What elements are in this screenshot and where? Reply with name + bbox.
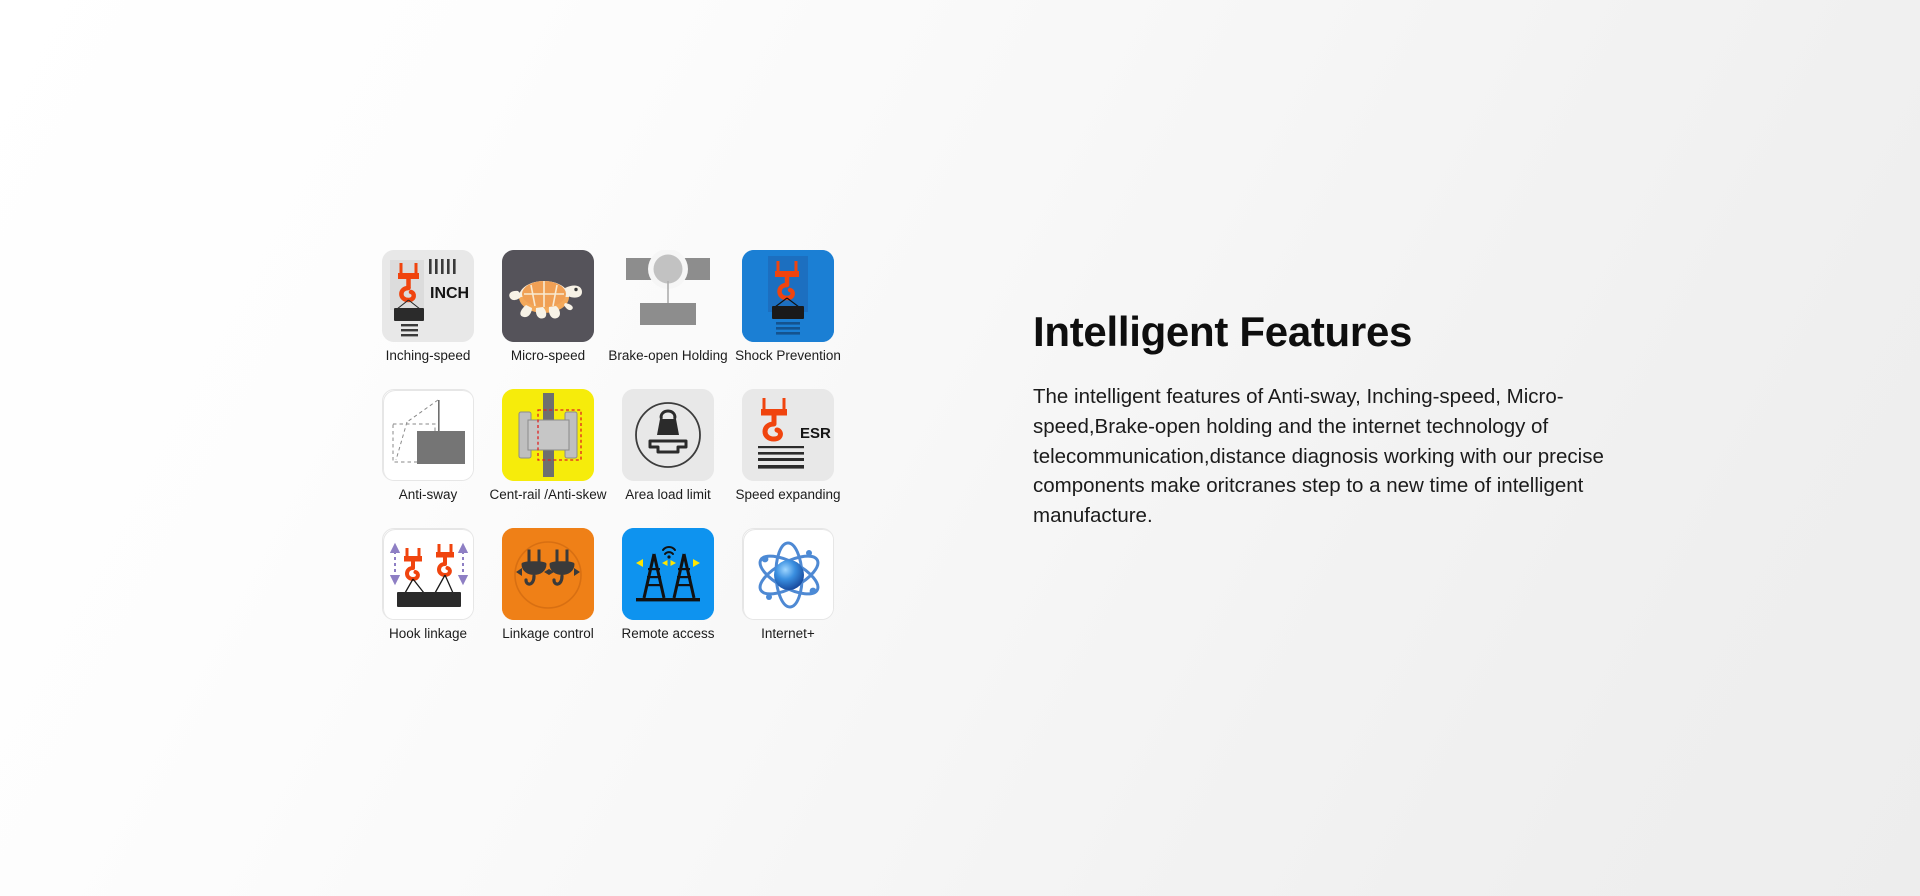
description-paragraph: The intelligent features of Anti-sway, I… [1033,382,1613,531]
feature-item-anti-sway[interactable]: Anti-sway [368,389,488,503]
inching-speed-icon: INCH [382,250,474,342]
page-root: INCH Inching-speed [0,0,1920,896]
cent-rail-anti-skew-icon [502,389,594,481]
hook-linkage-icon [382,528,474,620]
speed-expanding-esr-icon: ESR [742,389,834,481]
feature-item-hook-linkage[interactable]: Hook linkage [368,528,488,642]
feature-label: Hook linkage [389,627,467,642]
linkage-control-icon [502,528,594,620]
internet-plus-atom-icon [742,528,834,620]
feature-item-brake-open-holding[interactable]: Brake-open Holding [608,250,728,364]
features-icon-grid: INCH Inching-speed [368,250,848,642]
feature-item-remote-access[interactable]: Remote access [608,528,728,642]
feature-item-linkage-control[interactable]: Linkage control [488,528,608,642]
feature-label: Shock Prevention [735,349,841,364]
shock-prevention-icon [742,250,834,342]
row-spacer [368,503,848,528]
icon-row-3: Hook linkage [368,528,848,642]
feature-item-internet-plus[interactable]: Internet+ [728,528,848,642]
speed-expanding-badge-text: ESR [800,425,831,442]
row-spacer [368,364,848,389]
area-load-limit-icon [622,389,714,481]
remote-access-icon [622,528,714,620]
feature-label: Micro-speed [511,349,585,364]
feature-label: Brake-open Holding [608,349,727,364]
icon-row-2: Anti-sway [368,389,848,503]
feature-label: Remote access [621,627,714,642]
feature-item-area-load-limit[interactable]: Area load limit [608,389,728,503]
feature-label: Anti-sway [399,488,458,503]
feature-item-cent-rail-anti-skew[interactable]: Cent-rail /Anti-skew [488,389,608,503]
feature-label: Area load limit [625,488,711,503]
feature-item-inching-speed[interactable]: INCH Inching-speed [368,250,488,364]
brake-open-holding-icon [622,250,714,342]
feature-label: Cent-rail /Anti-skew [489,488,606,503]
feature-item-micro-speed[interactable]: Micro-speed [488,250,608,364]
feature-item-shock-prevention[interactable]: Shock Prevention [728,250,848,364]
feature-label: Inching-speed [386,349,471,364]
icon-row-1: INCH Inching-speed [368,250,848,364]
anti-sway-icon [382,389,474,481]
feature-label: Linkage control [502,627,594,642]
inching-badge-text: INCH [430,285,469,302]
feature-label: Internet+ [761,627,815,642]
micro-speed-turtle-icon [502,250,594,342]
intelligent-features-text-block: Intelligent Features The intelligent fea… [1033,310,1633,531]
page-title: Intelligent Features [1033,310,1633,354]
feature-label: Speed expanding [735,488,840,503]
feature-item-speed-expanding[interactable]: ESR Speed expanding [728,389,848,503]
